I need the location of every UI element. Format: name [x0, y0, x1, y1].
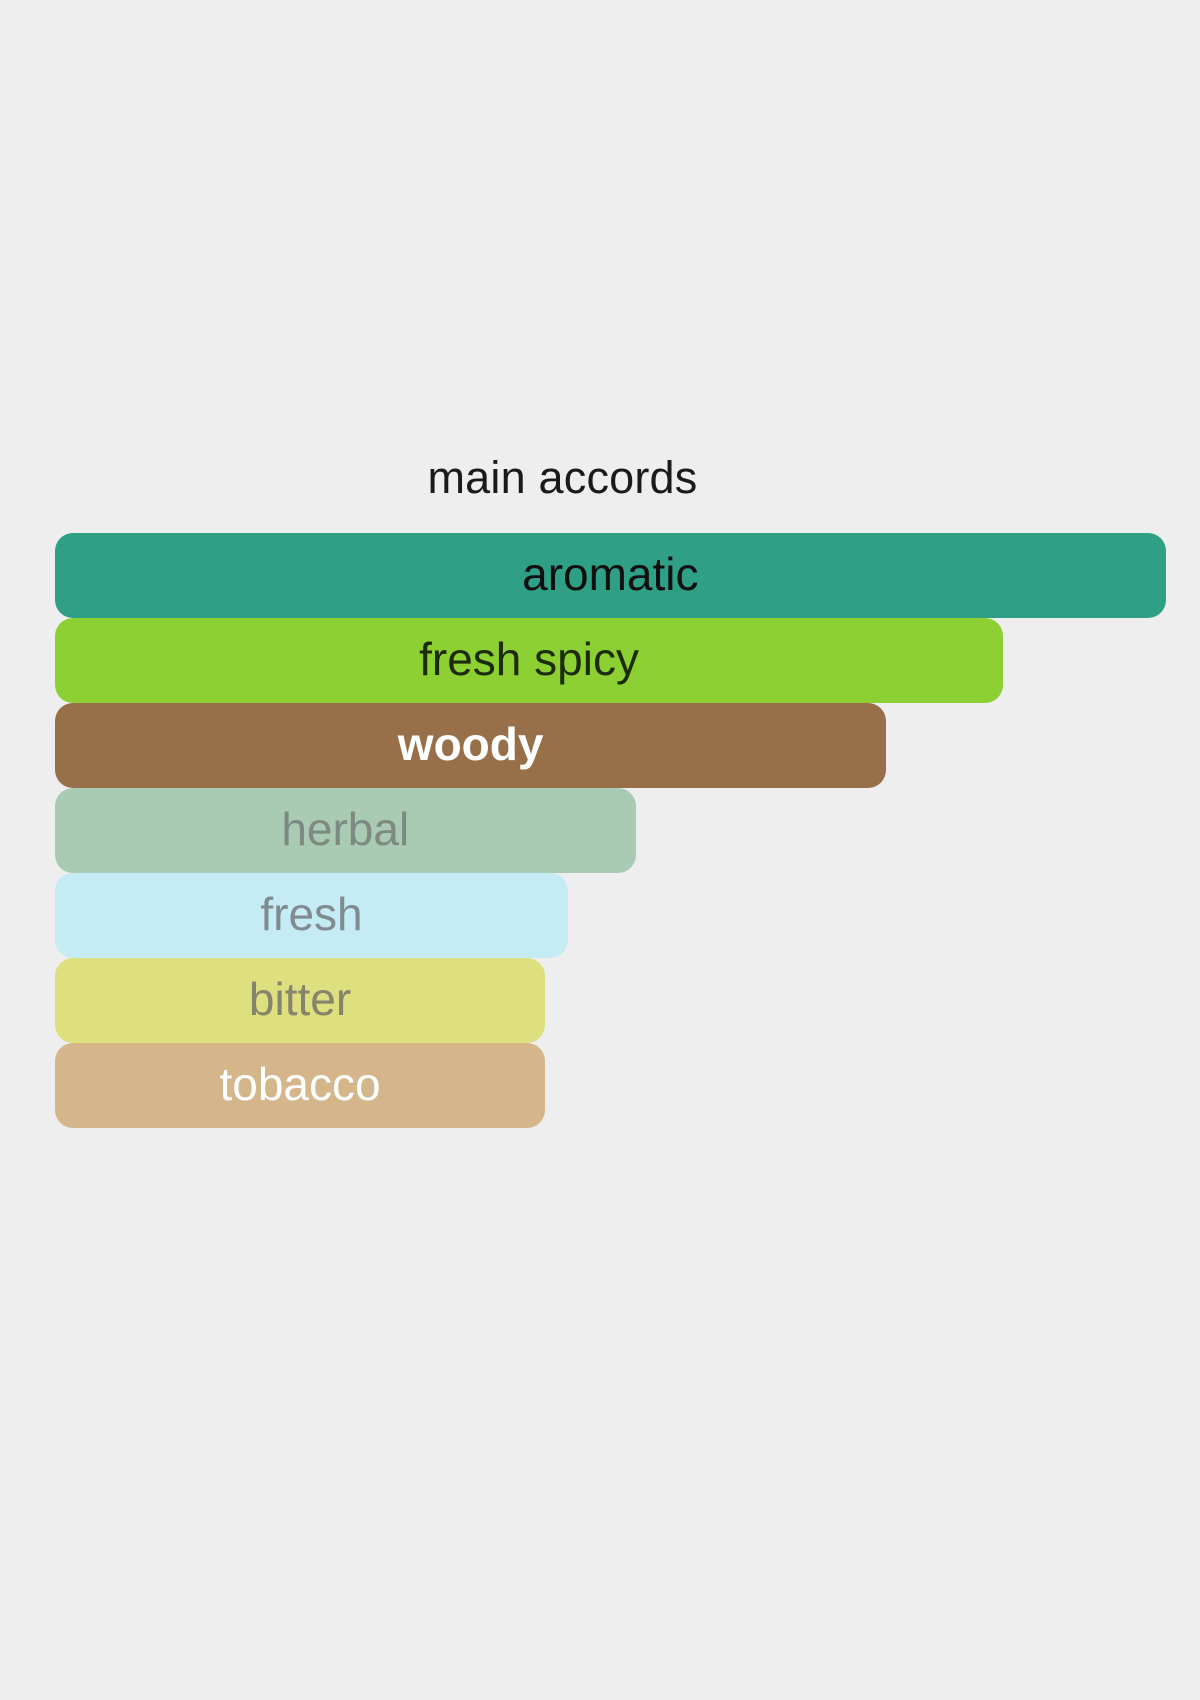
chart-title: main accords [0, 448, 1125, 508]
main-accords-chart: main accords aromaticfresh spicywoodyher… [0, 0, 1200, 1700]
accord-bar-woody: woody [55, 703, 886, 788]
accord-bar-label: fresh [260, 891, 362, 940]
accord-bar-row: bitter [55, 958, 1200, 1043]
accord-bar-aromatic: aromatic [55, 533, 1166, 618]
accord-bar-bitter: bitter [55, 958, 545, 1043]
accord-bar-row: tobacco [55, 1043, 1200, 1128]
accord-bar-label: herbal [281, 806, 409, 855]
accord-bar-list: aromaticfresh spicywoodyherbalfreshbitte… [55, 533, 1200, 1128]
accord-bar-row: aromatic [55, 533, 1200, 618]
accord-bar-row: fresh spicy [55, 618, 1200, 703]
accord-bar-row: herbal [55, 788, 1200, 873]
accord-bar-herbal: herbal [55, 788, 636, 873]
accord-bar-row: woody [55, 703, 1200, 788]
accord-bar-row: fresh [55, 873, 1200, 958]
accord-bar-fresh: fresh [55, 873, 568, 958]
accord-bar-label: aromatic [522, 551, 698, 600]
accord-bar-tobacco: tobacco [55, 1043, 545, 1128]
accord-bar-fresh-spicy: fresh spicy [55, 618, 1003, 703]
accord-bar-label: woody [398, 721, 544, 770]
accord-bar-label: tobacco [219, 1061, 380, 1110]
accord-bar-label: bitter [249, 976, 351, 1025]
accord-bar-label: fresh spicy [419, 636, 639, 685]
